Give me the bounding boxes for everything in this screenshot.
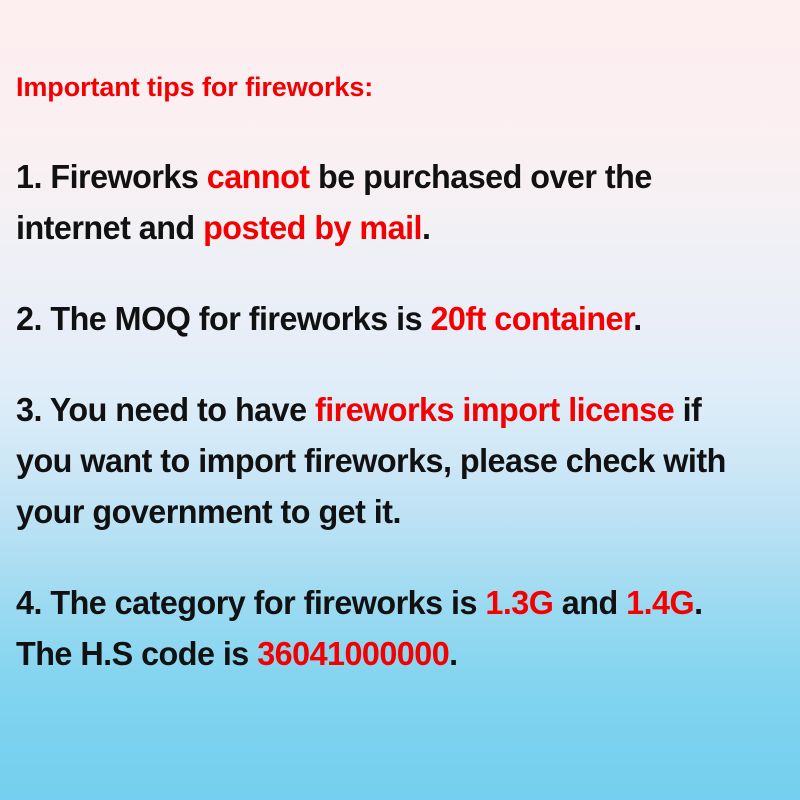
tip-item-1: 1. Fireworks cannot be purchased over th… [16,152,763,254]
highlighted-text: 36041000000 [257,636,449,673]
body-text: 4. The category for fireworks is [16,585,485,622]
tip-item-2: 2. The MOQ for fireworks is 20ft contain… [16,294,763,345]
body-text: and [553,585,626,622]
body-text: . [633,301,641,338]
highlighted-text: 1.3G [485,585,553,622]
body-text: 1. Fireworks [16,159,207,196]
tip-item-3: 3. You need to have fireworks import lic… [16,385,763,538]
body-text: 3. You need to have [16,392,315,429]
tip-item-4: 4. The category for fireworks is 1.3G an… [16,578,763,680]
highlighted-text: 20ft container [430,301,633,338]
highlighted-text: fireworks import license [315,392,674,429]
page-title: Important tips for fireworks: [16,70,786,104]
body-text: 2. The MOQ for fireworks is [16,301,430,338]
tips-list: 1. Fireworks cannot be purchased over th… [16,152,790,680]
body-text: . [422,210,430,247]
highlighted-text: 1.4G [626,585,694,622]
highlighted-text: cannot [207,159,310,196]
body-text: . [449,636,457,673]
highlighted-text: posted by mail [203,210,422,247]
fireworks-tips-poster: Important tips for fireworks: 1. Firewor… [0,0,800,800]
